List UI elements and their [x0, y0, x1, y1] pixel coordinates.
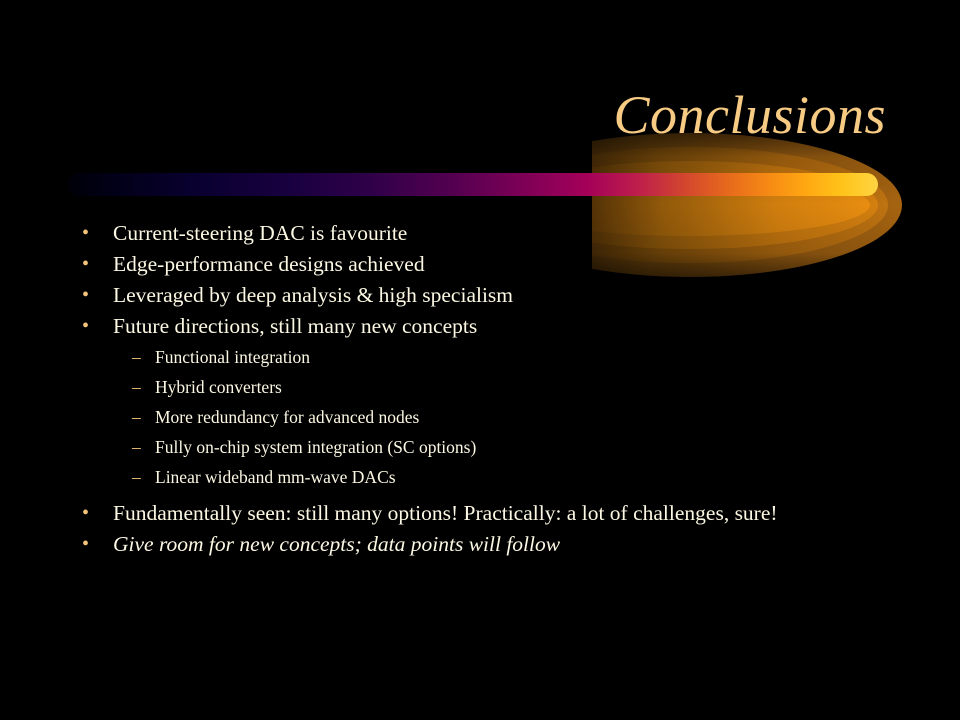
bullet-list: • Current-steering DAC is favourite • Ed…: [0, 218, 960, 560]
bullet-marker-dash: –: [132, 432, 150, 462]
sub-bullet-text: Fully on-chip system integration (SC opt…: [155, 432, 476, 462]
bullet-marker-dash: –: [132, 462, 150, 492]
sub-bullet-item-3: – More redundancy for advanced nodes: [0, 402, 960, 432]
bullet-text: Give room for new concepts; data points …: [113, 529, 560, 560]
sub-bullet-item-1: – Functional integration: [0, 342, 960, 372]
bullet-marker-dash: –: [132, 342, 150, 372]
sub-bullet-item-4: – Fully on-chip system integration (SC o…: [0, 432, 960, 462]
bullet-text: Fundamentally seen: still many options! …: [113, 498, 778, 529]
bullet-item-1: • Current-steering DAC is favourite: [0, 218, 960, 249]
presentation-slide: Conclusions • Current-steering DAC is fa…: [0, 0, 960, 720]
bullet-item-2: • Edge-performance designs achieved: [0, 249, 960, 280]
bullet-marker-dash: –: [132, 372, 150, 402]
sub-bullet-text: Hybrid converters: [155, 372, 282, 402]
bullet-text: Current-steering DAC is favourite: [113, 218, 407, 249]
bullet-marker-dot: •: [82, 498, 94, 529]
bullet-item-6: • Give room for new concepts; data point…: [0, 529, 960, 560]
bullet-marker-dot: •: [82, 218, 94, 249]
page-title: Conclusions: [613, 88, 886, 142]
bullet-marker-dot: •: [82, 529, 94, 560]
bullet-marker-dash: –: [132, 402, 150, 432]
bullet-text: Edge-performance designs achieved: [113, 249, 425, 280]
bullet-item-5: • Fundamentally seen: still many options…: [0, 498, 960, 529]
sub-bullet-text: Linear wideband mm-wave DACs: [155, 462, 396, 492]
bullet-marker-dot: •: [82, 311, 94, 342]
sub-bullet-item-2: – Hybrid converters: [0, 372, 960, 402]
bullet-text: Future directions, still many new concep…: [113, 311, 477, 342]
sub-bullet-text: Functional integration: [155, 342, 310, 372]
bullet-marker-dot: •: [82, 249, 94, 280]
comet-bright-bar: [68, 173, 878, 196]
bullet-text: Leveraged by deep analysis & high specia…: [113, 280, 513, 311]
sub-bullet-text: More redundancy for advanced nodes: [155, 402, 419, 432]
bullet-marker-dot: •: [82, 280, 94, 311]
bullet-item-3: • Leveraged by deep analysis & high spec…: [0, 280, 960, 311]
sub-bullet-item-5: – Linear wideband mm-wave DACs: [0, 462, 960, 492]
bullet-item-4: • Future directions, still many new conc…: [0, 311, 960, 342]
